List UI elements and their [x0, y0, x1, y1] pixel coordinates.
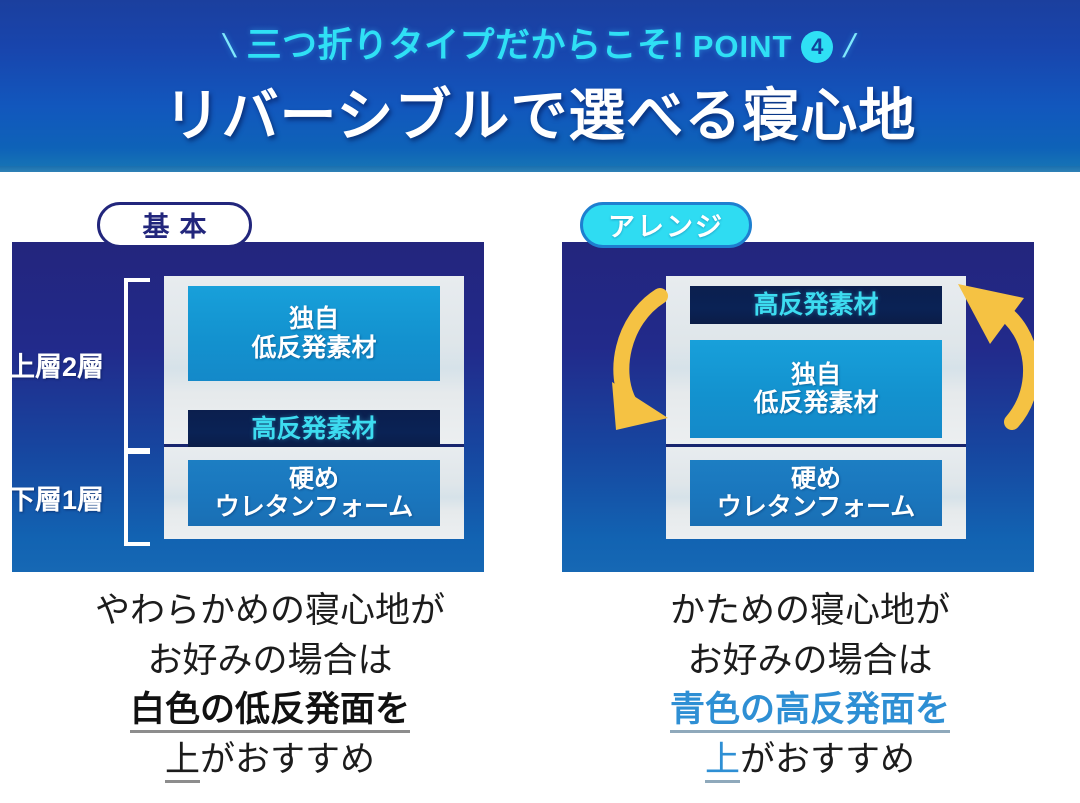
- mattress-box-basic: 独自 低反発素材 高反発素材 硬め ウレタンフォーム 上層2層 下層1層: [12, 242, 484, 572]
- caption-line-1: かための寝心地が: [540, 586, 1080, 636]
- flip-arrow-left-icon: [592, 278, 702, 438]
- panel-basic: 基本 独自 低反発素材 高反発素材 硬め ウレタンフォーム 上層2層 下層1層 …: [0, 178, 540, 803]
- comparison-panels: 基本 独自 低反発素材 高反発素材 硬め ウレタンフォーム 上層2層 下層1層 …: [0, 178, 1080, 803]
- header-kicker: \三つ折りタイプだからこそ!POINT4/: [0, 17, 1080, 68]
- panel-arrange: アレンジ 高反発素材 独自 低反発素材 硬め ウレタンフォーム かための寝心地が…: [540, 178, 1080, 803]
- layer-urethane: 硬め ウレタンフォーム: [690, 460, 942, 526]
- caption-line-1: やわらかめの寝心地が: [0, 586, 540, 636]
- bracket-lower: [124, 450, 150, 546]
- kicker-slash-left: \: [220, 27, 239, 65]
- caption-line-2: お好みの場合は: [0, 636, 540, 686]
- kicker-slash-right: /: [841, 27, 860, 65]
- page-title: リバーシブルで選べる寝心地: [0, 70, 1080, 152]
- point-number-badge: 4: [801, 31, 833, 63]
- layer-high-rebound: 高反発素材: [188, 410, 440, 448]
- badge-arrange: アレンジ: [580, 202, 752, 248]
- bracket-upper: [124, 278, 150, 452]
- layer-low-rebound: 独自 低反発素材: [188, 286, 440, 381]
- layer-low-rebound: 独自 低反発素材: [690, 340, 942, 438]
- caption-emphasis-phrase: 白色の低反発面を: [130, 690, 410, 733]
- layer-urethane: 硬め ウレタンフォーム: [188, 460, 440, 526]
- caption-line-4-rest: がおすすめ: [200, 740, 375, 779]
- caption-line-4-rest: がおすすめ: [740, 740, 915, 779]
- bracket-label-upper: 上層2層: [12, 345, 104, 384]
- flip-arrow-right-icon: [950, 262, 1034, 442]
- mattress-box-arrange: 高反発素材 独自 低反発素材 硬め ウレタンフォーム: [562, 242, 1034, 572]
- caption-emphasis-ue: 上: [165, 740, 200, 783]
- caption-line-2: お好みの場合は: [540, 636, 1080, 686]
- point-word: POINT: [693, 29, 793, 64]
- badge-basic: 基本: [97, 202, 252, 248]
- header-accent-line: [0, 166, 1080, 172]
- caption-arrange: かための寝心地が お好みの場合は 青色の高反発面を 上がおすすめ: [540, 586, 1080, 785]
- bracket-label-lower: 下層1層: [12, 478, 104, 517]
- header-banner: \三つ折りタイプだからこそ!POINT4/ リバーシブルで選べる寝心地: [0, 0, 1080, 172]
- caption-emphasis-phrase: 青色の高反発面を: [670, 690, 950, 733]
- caption-basic: やわらかめの寝心地が お好みの場合は 白色の低反発面を 上がおすすめ: [0, 586, 540, 785]
- kicker-text: 三つ折りタイプだからこそ!: [247, 26, 685, 65]
- caption-emphasis-ue: 上: [705, 740, 740, 783]
- layer-high-rebound: 高反発素材: [690, 286, 942, 324]
